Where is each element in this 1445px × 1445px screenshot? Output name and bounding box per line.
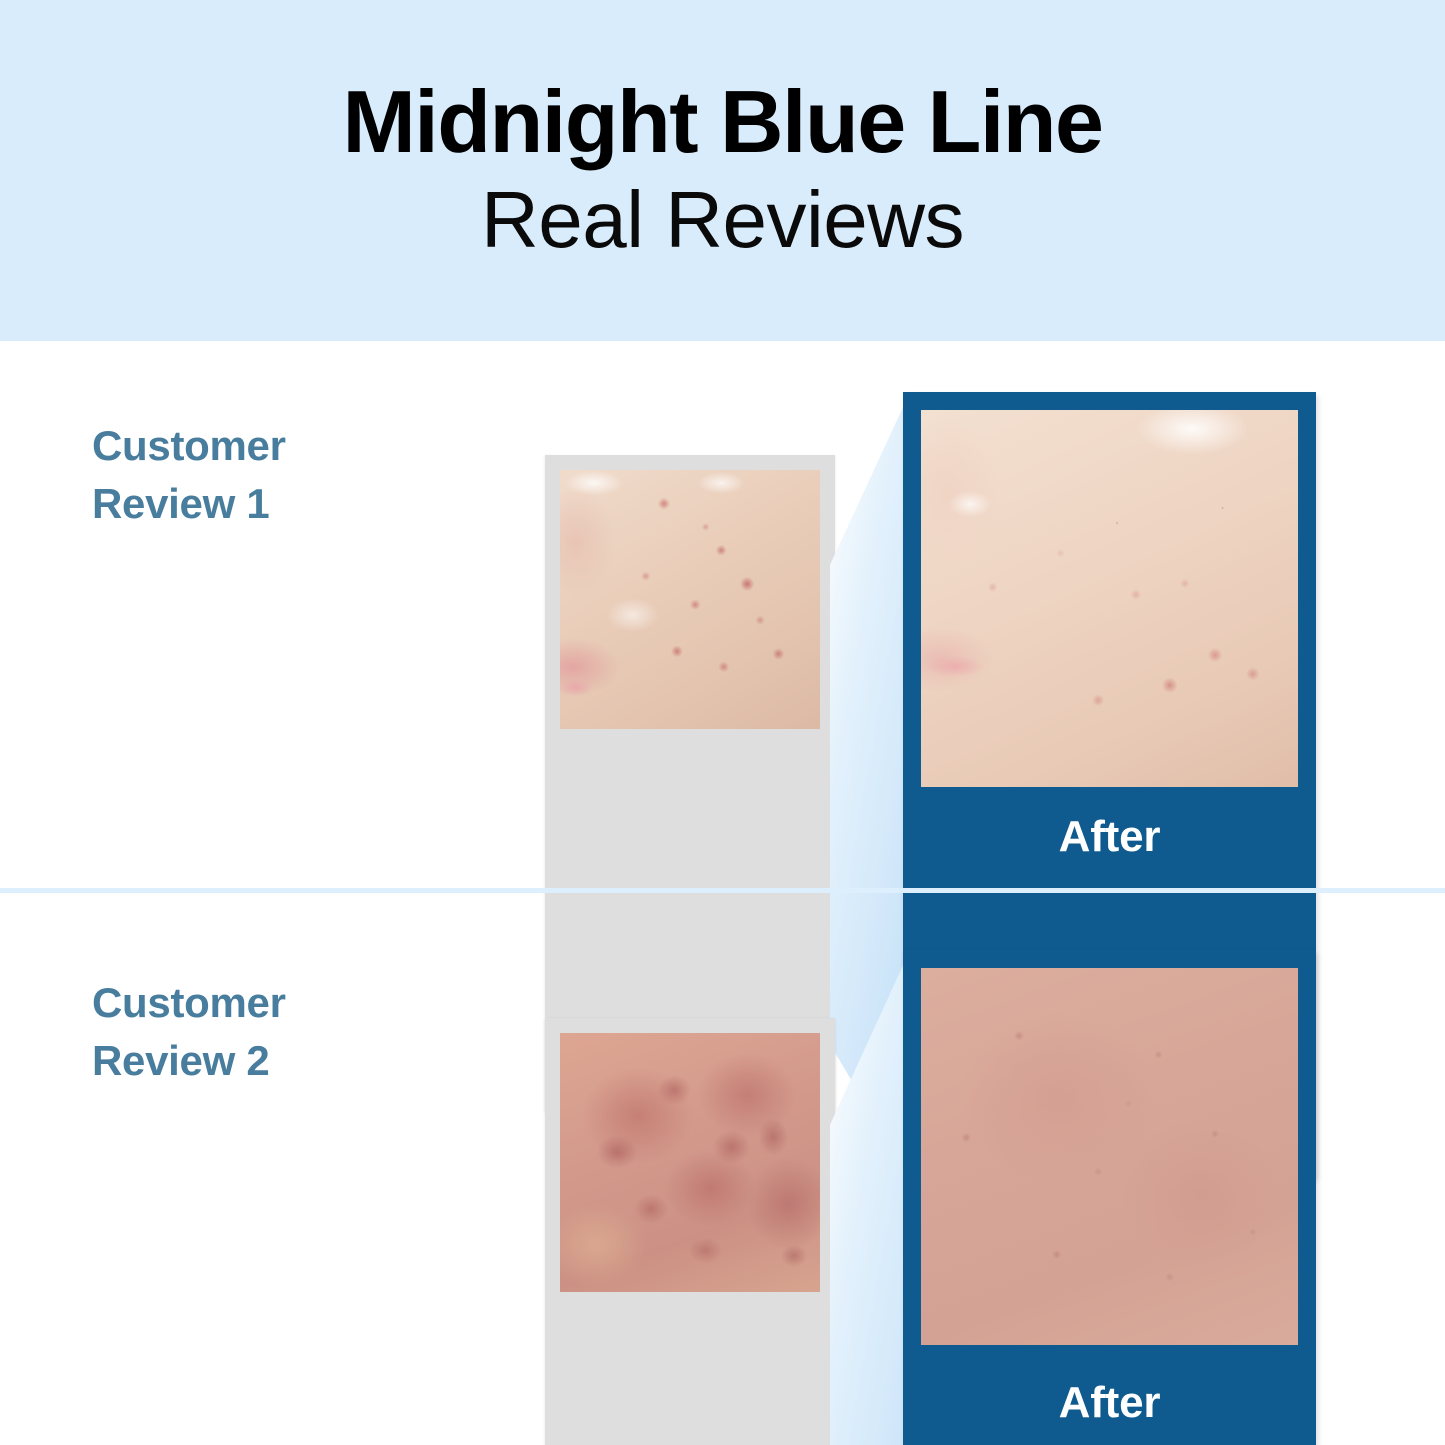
zoom-connector-wedge-2: [830, 950, 910, 1445]
after-caption-1: After: [903, 796, 1316, 878]
skin-texture-red-before: [560, 1033, 820, 1292]
review-label-2: Customer Review 2: [92, 974, 286, 1090]
page-subtitle: Real Reviews: [481, 176, 964, 264]
after-photo-2: [921, 968, 1298, 1345]
review-label-line1: Customer: [92, 417, 286, 475]
after-caption-2: After: [903, 1360, 1316, 1445]
marketing-page: Midnight Blue Line Real Reviews Customer…: [0, 0, 1445, 1445]
review-label-1: Customer Review 1: [92, 417, 286, 533]
before-photo-2: [560, 1033, 820, 1292]
before-photo-1: [560, 470, 820, 729]
skin-texture-red-after: [921, 968, 1298, 1345]
page-header: Midnight Blue Line Real Reviews: [0, 0, 1445, 341]
before-card-2[interactable]: Before: [545, 1018, 835, 1445]
review-label-line1: Customer: [92, 974, 286, 1032]
page-title: Midnight Blue Line: [342, 77, 1102, 167]
review-label-line2: Review 1: [92, 475, 286, 533]
skin-texture-acne-before: [560, 470, 820, 729]
review-block-1: Customer Review 1 Before After: [0, 341, 1445, 888]
review-block-2: Customer Review 2 Before After: [0, 893, 1445, 1445]
skin-texture-acne-after: [921, 410, 1298, 787]
after-card-2[interactable]: After: [903, 950, 1316, 1445]
review-label-line2: Review 2: [92, 1032, 286, 1090]
after-photo-1: [921, 410, 1298, 787]
